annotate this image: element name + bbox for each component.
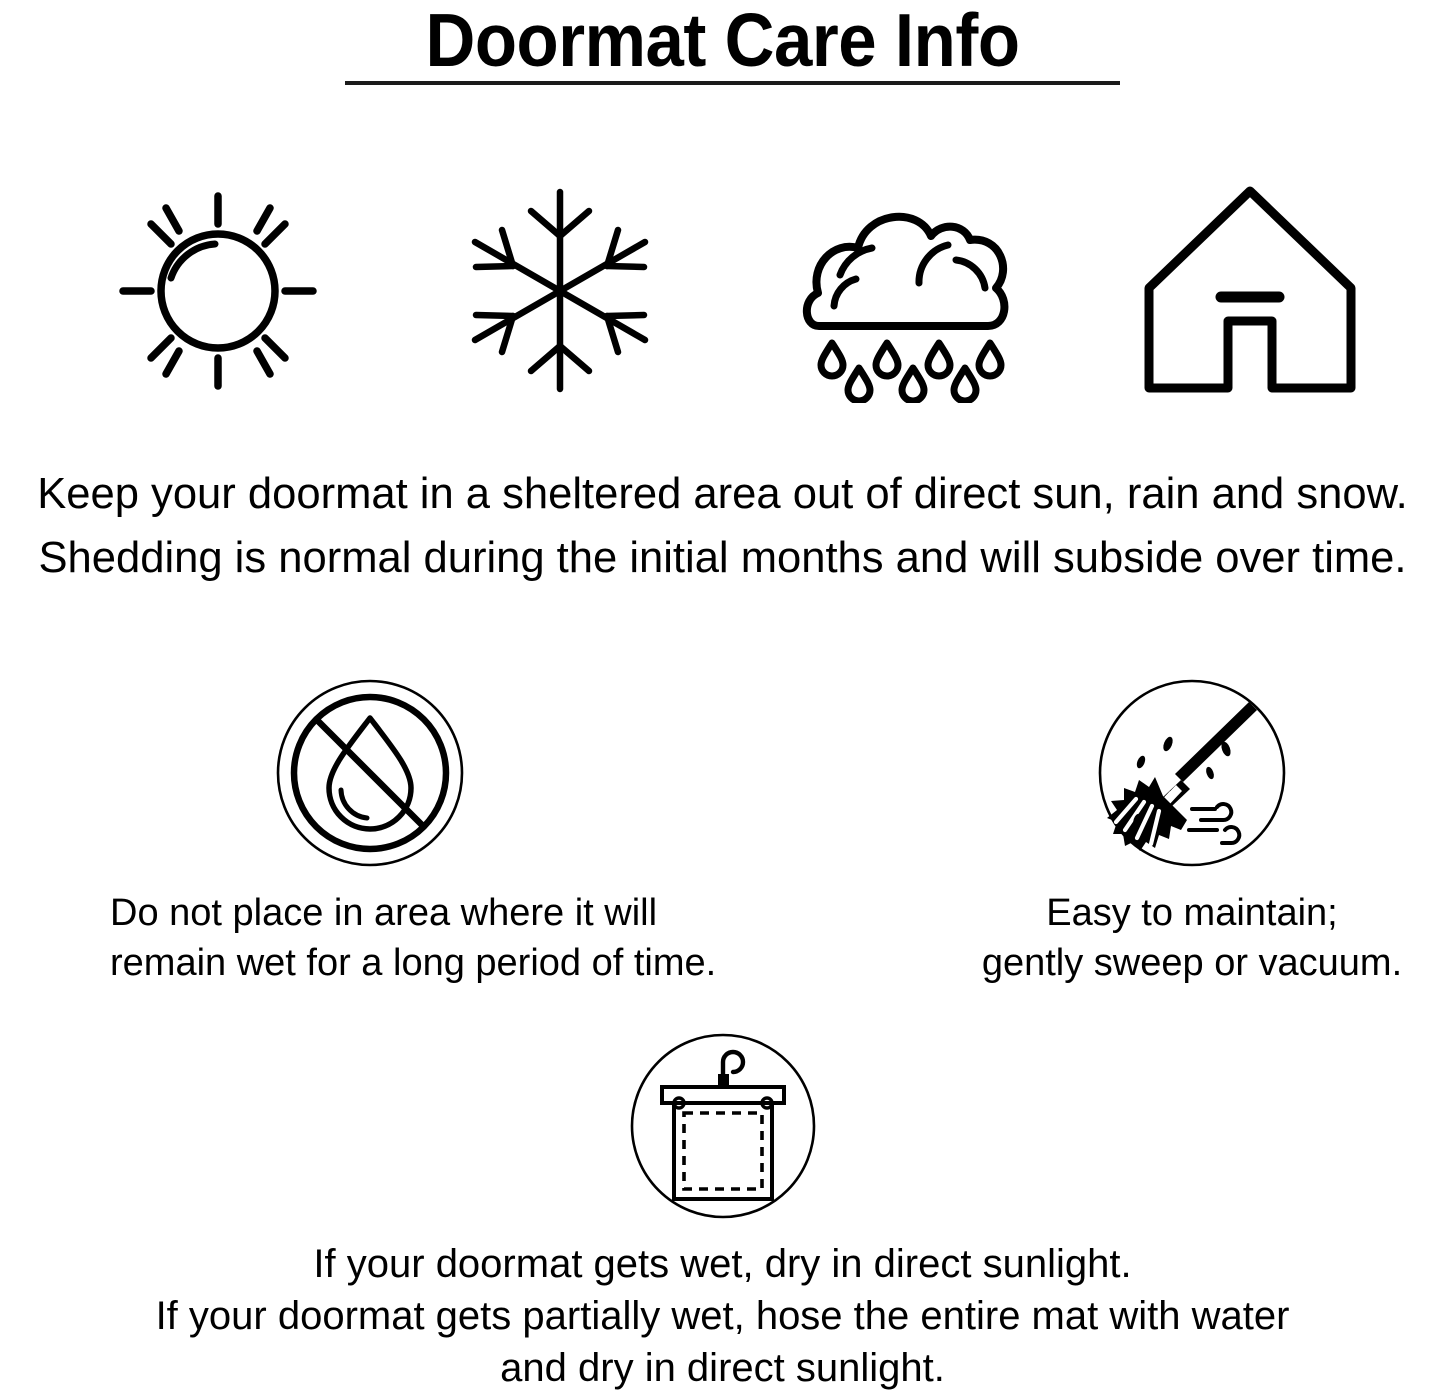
- weather-icon-row: [0, 178, 1445, 403]
- care-caption-line-1: Easy to maintain;: [932, 888, 1445, 938]
- care-item-sweep: Easy to maintain; gently sweep or vacuum…: [932, 678, 1445, 988]
- drying-section: If your doormat gets wet, dry in direct …: [0, 1032, 1445, 1393]
- drying-caption-line-3: and dry in direct sunlight.: [0, 1342, 1445, 1393]
- sun-icon: [103, 178, 333, 403]
- intro-line-2: Shedding is normal during the initial mo…: [7, 526, 1438, 590]
- doormat-care-info-page: Doormat Care Info: [0, 0, 1445, 1393]
- intro-line-1: Keep your doormat in a sheltered area ou…: [7, 462, 1438, 526]
- no-water-icon: [275, 678, 465, 868]
- care-caption-line-1: Do not place in area where it will: [110, 888, 630, 938]
- care-caption-no-water: Do not place in area where it will remai…: [110, 888, 630, 988]
- care-caption-sweep: Easy to maintain; gently sweep or vacuum…: [932, 888, 1445, 988]
- snowflake-icon: [445, 178, 675, 403]
- care-caption-line-2: gently sweep or vacuum.: [932, 938, 1445, 988]
- rain-cloud-icon: [790, 178, 1020, 403]
- care-pair-section: Do not place in area where it will remai…: [0, 678, 1445, 988]
- intro-paragraph: Keep your doormat in a sheltered area ou…: [0, 462, 1445, 590]
- broom-sweep-icon: [1097, 678, 1287, 868]
- page-title: Doormat Care Info: [58, 0, 1387, 78]
- house-icon: [1135, 178, 1365, 403]
- hang-dry-icon: [629, 1032, 817, 1220]
- drying-caption: If your doormat gets wet, dry in direct …: [0, 1238, 1445, 1393]
- drying-caption-line-1: If your doormat gets wet, dry in direct …: [0, 1238, 1445, 1290]
- drying-caption-line-2: If your doormat gets partially wet, hose…: [0, 1290, 1445, 1342]
- care-caption-line-2: remain wet for a long period of time.: [110, 938, 630, 988]
- title-divider: [345, 81, 1120, 85]
- care-item-no-water: Do not place in area where it will remai…: [110, 678, 630, 988]
- header: Doormat Care Info: [0, 0, 1445, 78]
